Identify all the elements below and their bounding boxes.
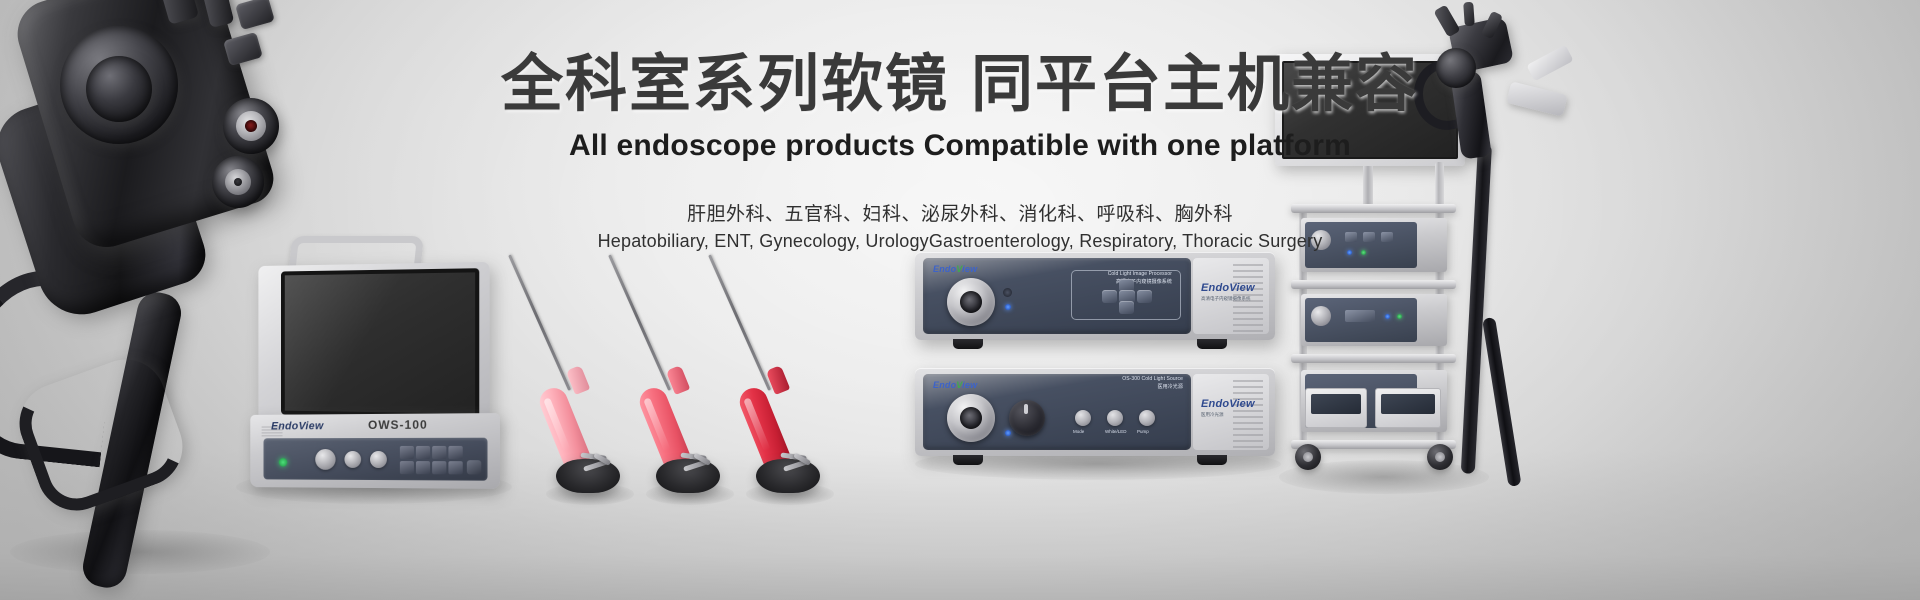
image-processor-unit-top: EndoView Cold Light Image Processor 高清电子… xyxy=(915,252,1275,340)
cart-device-2-knob xyxy=(1311,306,1331,326)
endoscope-shadow xyxy=(10,530,270,574)
keypad xyxy=(400,446,463,475)
subheadline-en: All endoscope products Compatible with o… xyxy=(0,129,1920,163)
unit-foot-right xyxy=(1197,339,1227,349)
pump-button xyxy=(1139,410,1155,426)
product-monitor-workstation: EndoView OWS-100 xyxy=(238,238,508,488)
cart-device-2-led-green xyxy=(1397,314,1402,319)
processor-keypad-area-top: Cold Light Image Processor 高清电子内窥镜摄像系统 xyxy=(1071,270,1181,320)
departments-cn: 肝胆外科、五官科、妇科、泌尿外科、消化科、呼吸科、胸外科 xyxy=(0,199,1920,226)
cart-drawer-1-screen xyxy=(1311,394,1361,414)
monitor-control-panel xyxy=(264,438,488,481)
navigation-dpad-top xyxy=(1100,279,1152,313)
processor-right-badge-top: EndoView 高清电子内窥镜摄像系统 xyxy=(1193,258,1269,334)
power-led xyxy=(279,458,288,467)
unit-foot-right-bottom xyxy=(1197,455,1227,465)
unit-foot-left xyxy=(953,339,983,349)
instrument-neck xyxy=(566,365,591,395)
status-led-bottom xyxy=(1005,430,1011,436)
function-button-row: Mode White/LED Pump xyxy=(1073,404,1173,434)
control-dial-c xyxy=(370,451,387,468)
light-output-port xyxy=(947,394,995,442)
headline-cn-part2: 同平台主机兼容 xyxy=(971,50,1419,119)
processor-right-badge-bottom: EndoView 医用冷光源 xyxy=(1193,374,1269,450)
brand-logo-processor-bottom: EndoView xyxy=(933,380,977,390)
brand-badge-sub-bottom: 医用冷光源 xyxy=(1201,412,1224,418)
instrument-neck xyxy=(666,365,691,395)
gastroscope-distal-tube xyxy=(1482,317,1521,487)
camera-head-port xyxy=(947,278,995,326)
cart-device-2-display xyxy=(1345,310,1375,322)
side-port xyxy=(467,460,481,474)
status-led-top xyxy=(1005,304,1011,310)
brand-badge-bottom: EndoView xyxy=(1201,398,1255,410)
processor-front-panel-bottom: EndoView Mode White/LED Pump OS-300 Cold… xyxy=(923,374,1191,450)
monitor-bezel xyxy=(258,262,489,424)
processor-front-panel-top: EndoView Cold Light Image Processor 高清电子… xyxy=(923,258,1191,334)
dpad-down-button xyxy=(1119,301,1134,314)
control-dial-a xyxy=(315,449,335,470)
aux-port-top xyxy=(1003,288,1012,297)
monitor-screen xyxy=(281,268,479,418)
instrument-neck xyxy=(766,365,791,395)
monitor-base-panel: EndoView OWS-100 xyxy=(250,413,500,489)
gastroscope-lever-c xyxy=(1463,2,1475,27)
panel-caption-bottom: OS-300 Cold Light Source 医用冷光源 xyxy=(1122,376,1183,391)
model-label-monitor: OWS-100 xyxy=(368,418,428,432)
cart-device-2-led xyxy=(1385,314,1390,319)
whiteled-button-label: White/LED xyxy=(1105,429,1127,434)
page-title: 全科室系列软镜同平台主机兼容 xyxy=(0,52,1920,119)
product-flexible-instrument-red xyxy=(700,255,870,495)
banner-text-block: 全科室系列软镜同平台主机兼容 All endoscope products Co… xyxy=(0,52,1920,252)
whiteled-button xyxy=(1107,410,1123,426)
headline-cn-part1: 全科室系列软镜 xyxy=(501,50,949,119)
brand-badge-sub-top: 高清电子内窥镜摄像系统 xyxy=(1201,296,1251,302)
product-banner: 全科室系列软镜同平台主机兼容 All endoscope products Co… xyxy=(0,0,1920,600)
mode-button-label: Mode xyxy=(1073,429,1084,434)
brightness-knob xyxy=(1009,400,1045,436)
cold-light-source-unit-bottom: EndoView Mode White/LED Pump OS-300 Cold… xyxy=(915,368,1275,456)
endoscope-button-1 xyxy=(235,0,275,30)
brand-badge-top: EndoView xyxy=(1201,282,1255,294)
pump-button-label: Pump xyxy=(1137,429,1149,434)
control-dial-b xyxy=(344,451,361,468)
instrument-wire-shaft xyxy=(708,254,771,390)
brand-logo-processor-top: EndoView xyxy=(933,264,977,274)
vent-grille-bottom xyxy=(1233,380,1263,450)
cart-drawer-1 xyxy=(1305,388,1367,428)
departments-en: Hepatobiliary, ENT, Gynecology, UrologyG… xyxy=(0,231,1920,252)
brand-logo-monitor: EndoView xyxy=(271,420,323,432)
product-processor-stack: EndoView Cold Light Image Processor 高清电子… xyxy=(915,252,1285,472)
dpad-right-button xyxy=(1137,290,1152,303)
instrument-wire-shaft xyxy=(608,254,671,390)
dpad-left-button xyxy=(1102,290,1117,303)
cart-wheel-left xyxy=(1295,444,1321,470)
mode-button xyxy=(1075,410,1091,426)
gastroscope-lever-a xyxy=(1433,5,1460,38)
unit-foot-left-bottom xyxy=(953,455,983,465)
instrument-wire-shaft xyxy=(508,254,571,390)
